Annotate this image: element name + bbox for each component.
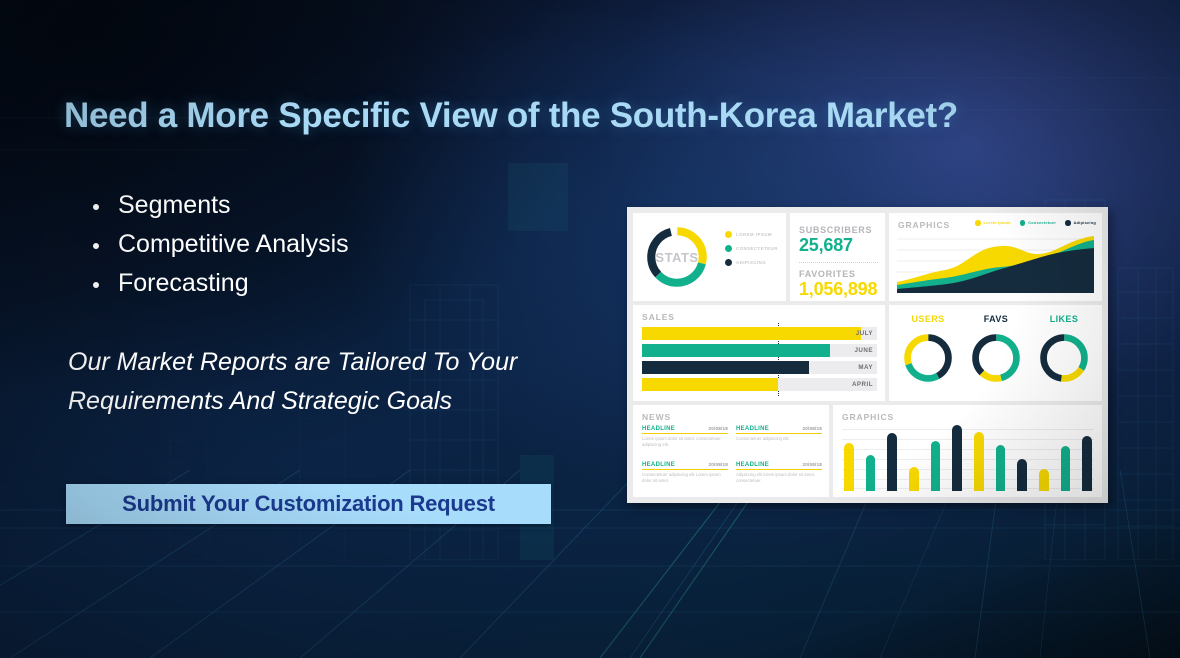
favorites-value: 1,056,898 xyxy=(799,279,878,300)
news-date: 20/08/18 xyxy=(709,426,728,431)
legend-swatch-yellow xyxy=(725,231,732,238)
likes-donut-title: LIKES xyxy=(1037,314,1091,324)
legend-item: ADIPISCING xyxy=(725,259,778,266)
list-item: Forecasting xyxy=(88,264,349,303)
news-date: 20/08/18 xyxy=(709,462,728,467)
legend-swatch-teal xyxy=(1020,220,1026,226)
graphics-legend: Lorem ipsum Consectetuer Adipiscing xyxy=(975,220,1096,226)
graphics-bar-chart-card: GRAPHICS xyxy=(833,405,1102,497)
favorites-label: FAVORITES xyxy=(799,269,878,279)
legend-swatch-navy xyxy=(1065,220,1071,226)
favs-donut-chart xyxy=(969,331,1023,385)
users-donut-chart xyxy=(901,331,955,385)
sales-bar-chart-card: SALES JULY xyxy=(633,305,885,401)
legend-swatch-yellow xyxy=(975,220,981,226)
sales-bar-april xyxy=(642,378,778,391)
news-headline: HEADLINE xyxy=(642,462,675,468)
bar-1 xyxy=(844,443,854,491)
bar-11 xyxy=(1061,446,1071,491)
table-row: JUNE xyxy=(642,344,877,357)
news-headline: HEADLINE xyxy=(736,462,769,468)
bar-10 xyxy=(1039,469,1049,491)
sales-month-label: APRIL xyxy=(852,378,873,391)
users-donut-title: USERS xyxy=(901,314,955,324)
left-content-column: Need a More Specific View of the South-K… xyxy=(0,0,620,658)
divider xyxy=(799,262,878,263)
submit-customization-request-button[interactable]: Submit Your Customization Request xyxy=(66,484,551,524)
bar-9 xyxy=(1017,459,1027,491)
legend-item: Consectetuer xyxy=(1020,220,1056,226)
graphics-area-chart-card: GRAPHICS Lorem ipsum Consectetuer Adipis… xyxy=(889,213,1102,301)
legend-item: LOREM IPSUM xyxy=(725,231,778,238)
stats-legend: LOREM IPSUM CONSECTETEUR ADIPISCING xyxy=(725,231,778,273)
subheadline-text: Our Market Reports are Tailored To Your … xyxy=(68,343,628,421)
subscribers-value: 25,687 xyxy=(799,235,878,256)
news-date: 20/08/18 xyxy=(803,462,822,467)
news-body: Lorem ipsum dolor sit amet, consectetuer… xyxy=(642,436,728,448)
legend-item: Lorem ipsum xyxy=(975,220,1011,226)
list-item[interactable]: HEADLINE 20/08/18 Consectetuer adipiscin… xyxy=(736,426,822,457)
favs-donut-title: FAVS xyxy=(969,314,1023,324)
legend-label: LOREM IPSUM xyxy=(736,232,772,237)
cta-button-label: Submit Your Customization Request xyxy=(122,491,495,517)
table-row: JULY xyxy=(642,327,877,340)
news-body: Consectetuer adipiscing elit Lorem ipsum… xyxy=(642,472,728,484)
stats-donut-card: STATS LOREM IPSUM CONSECTETEUR ADIPISCIN… xyxy=(633,213,786,301)
graphics-card-title: GRAPHICS xyxy=(898,220,950,230)
bar-chart-card-title: GRAPHICS xyxy=(842,412,894,422)
news-body: Adipiscing elit lorem ipsum dolor sit am… xyxy=(736,472,822,484)
kpi-card: SUBSCRIBERS 25,687 FAVORITES 1,056,898 xyxy=(790,213,885,301)
sales-card-title: SALES xyxy=(642,312,675,322)
list-item[interactable]: HEADLINE 20/08/18 Adipiscing elit lorem … xyxy=(736,462,822,493)
bar-8 xyxy=(996,445,1006,491)
sales-month-label: JUNE xyxy=(854,344,873,357)
subscribers-label: SUBSCRIBERS xyxy=(799,225,878,235)
sales-bar-july xyxy=(642,327,861,340)
list-item[interactable]: HEADLINE 20/08/18 Consectetuer adipiscin… xyxy=(642,462,728,493)
list-item: Competitive Analysis xyxy=(88,225,349,264)
bar-12 xyxy=(1082,436,1092,491)
bar-2 xyxy=(866,455,876,491)
table-row: MAY xyxy=(642,361,877,374)
table-row: APRIL xyxy=(642,378,877,391)
news-date: 20/08/18 xyxy=(803,426,822,431)
bar-4 xyxy=(909,467,919,491)
legend-label: Lorem ipsum xyxy=(984,220,1011,225)
legend-item: Adipiscing xyxy=(1065,220,1096,226)
news-list: HEADLINE 20/08/18 Lorem ipsum dolor sit … xyxy=(642,426,822,492)
news-headline: HEADLINE xyxy=(736,426,769,432)
slide-canvas: Need a More Specific View of the South-K… xyxy=(0,0,1180,658)
legend-label: CONSECTETEUR xyxy=(736,246,778,251)
metrics-donuts-card: USERS FAVS LIKES xyxy=(889,305,1102,401)
sales-bar-june xyxy=(642,344,830,357)
news-body: Consectetuer adipiscing elit. xyxy=(736,436,822,442)
feature-bullet-list: Segments Competitive Analysis Forecastin… xyxy=(88,186,349,303)
bar-5 xyxy=(931,441,941,491)
bar-series xyxy=(844,425,1092,491)
bar-7 xyxy=(974,432,984,491)
bar-6 xyxy=(952,425,962,491)
legend-swatch-navy xyxy=(725,259,732,266)
stats-donut-chart: STATS xyxy=(643,223,711,291)
list-item[interactable]: HEADLINE 20/08/18 Lorem ipsum dolor sit … xyxy=(642,426,728,457)
legend-item: CONSECTETEUR xyxy=(725,245,778,252)
analytics-dashboard-illustration: STATS LOREM IPSUM CONSECTETEUR ADIPISCIN… xyxy=(627,207,1108,503)
area-chart-plot xyxy=(897,233,1094,293)
sales-bar-may xyxy=(642,361,809,374)
news-card: NEWS HEADLINE 20/08/18 Lorem ipsum dolor… xyxy=(633,405,829,497)
news-card-title: NEWS xyxy=(642,412,671,422)
news-headline: HEADLINE xyxy=(642,426,675,432)
sales-month-label: JULY xyxy=(856,327,873,340)
bar-3 xyxy=(887,433,897,491)
likes-donut-chart xyxy=(1037,331,1091,385)
page-title: Need a More Specific View of the South-K… xyxy=(64,96,1084,136)
bar-chart-plot xyxy=(842,425,1094,491)
list-item: Segments xyxy=(88,186,349,225)
sales-bars: JULY JUNE MAY APRIL xyxy=(642,327,877,394)
sales-month-label: MAY xyxy=(858,361,873,374)
legend-label: ADIPISCING xyxy=(736,260,766,265)
legend-label: Consectetuer xyxy=(1028,220,1056,225)
legend-label: Adipiscing xyxy=(1074,220,1096,225)
stats-center-label: STATS xyxy=(643,223,711,291)
legend-swatch-teal xyxy=(725,245,732,252)
